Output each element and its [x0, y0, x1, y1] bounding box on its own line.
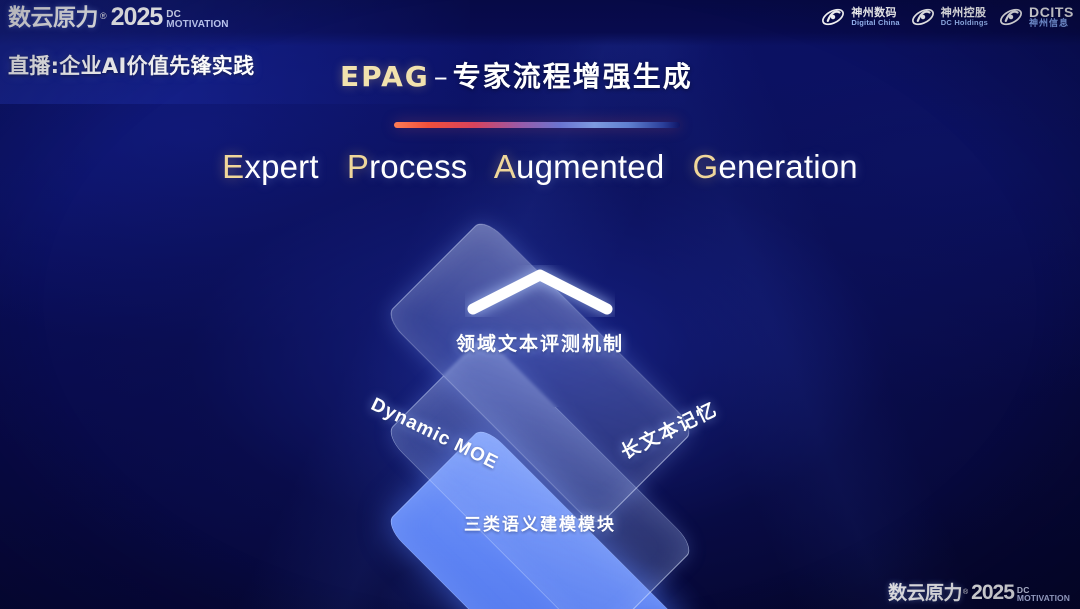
subtitle-word-generation: Generation — [693, 148, 858, 185]
swirl-logo-icon — [910, 4, 936, 30]
subtitle-rest: eneration — [718, 148, 857, 185]
stack-layer-top-label: 领域文本评测机制 — [456, 329, 624, 356]
brand-subtext: DC MOTIVATION — [166, 10, 228, 29]
slide-canvas: 数云原力 ® 2025 DC MOTIVATION 直播:企业AI价值先锋实践 … — [0, 0, 1080, 609]
swirl-logo-icon — [998, 4, 1024, 30]
watermark-registered-mark: ® — [963, 589, 968, 596]
partner-logo-group: 神州数码 Digital China 神州控股 DC Holdings — [820, 4, 1074, 30]
partner-logo-digital-china: 神州数码 Digital China — [820, 4, 899, 30]
partner-label: 神州数码 Digital China — [851, 7, 899, 27]
subtitle-rest: rocess — [369, 148, 467, 185]
brand-year: 2025 — [111, 5, 163, 30]
subtitle-cap: P — [347, 148, 369, 185]
headline-dash: – — [430, 60, 453, 93]
partner-name-en: DC Holdings — [941, 19, 988, 27]
subtitle-space — [328, 148, 337, 185]
subtitle-cap: G — [693, 148, 719, 185]
partner-label: 神州控股 DC Holdings — [941, 7, 988, 27]
brand-sub-motivation: MOTIVATION — [166, 20, 228, 30]
subtitle-space — [674, 148, 683, 185]
live-broadcast-title: 直播:企业AI价值先锋实践 — [8, 50, 254, 80]
partner-name-en-primary: DCITS — [1029, 5, 1074, 20]
watermark-year: 2025 — [971, 582, 1014, 603]
subtitle-cap: E — [222, 148, 244, 185]
stack-layer-bottom-label: 三类语义建模模块 — [464, 510, 616, 535]
partner-label: DCITS 神州信息 — [1029, 5, 1074, 29]
partner-logo-dcits: DCITS 神州信息 — [998, 4, 1074, 30]
brand-name-cn: 数云原力 — [8, 7, 98, 30]
watermark-subtext: DC MOTIVATION — [1017, 586, 1070, 602]
swirl-logo-icon — [820, 4, 846, 30]
gradient-divider — [394, 122, 680, 128]
slide-headline: EPAG–专家流程增强生成 — [340, 55, 693, 95]
subtitle-rest: xpert — [244, 148, 318, 185]
watermark-name-cn: 数云原力 — [888, 584, 962, 603]
subtitle-word-augmented: Augmented — [494, 148, 665, 185]
registered-mark: ® — [100, 12, 107, 21]
layered-stack-diagram: 领域文本评测机制 Dynamic MOE 长文本记忆 三类语义建模模块 — [300, 225, 780, 575]
subtitle-word-process: Process — [347, 148, 468, 185]
subtitle-rest: ugmented — [516, 148, 664, 185]
partner-logo-dc-holdings: 神州控股 DC Holdings — [910, 4, 988, 30]
brand-lockup: 数云原力 ® 2025 DC MOTIVATION — [8, 5, 229, 30]
footer-watermark: 数云原力 ® 2025 DC MOTIVATION — [888, 582, 1070, 603]
slide-subtitle: Expert Process Augmented Generation — [0, 148, 1080, 186]
partner-name-en: Digital China — [851, 19, 899, 27]
watermark-sub-motivation: MOTIVATION — [1017, 594, 1070, 602]
subtitle-word-expert: Expert — [222, 148, 319, 185]
subtitle-space — [477, 148, 486, 185]
headline-acronym: EPAG — [340, 60, 430, 93]
headline-chinese: 专家流程增强生成 — [453, 60, 693, 93]
partner-name-cn: 神州信息 — [1029, 20, 1074, 30]
subtitle-cap: A — [494, 148, 516, 185]
